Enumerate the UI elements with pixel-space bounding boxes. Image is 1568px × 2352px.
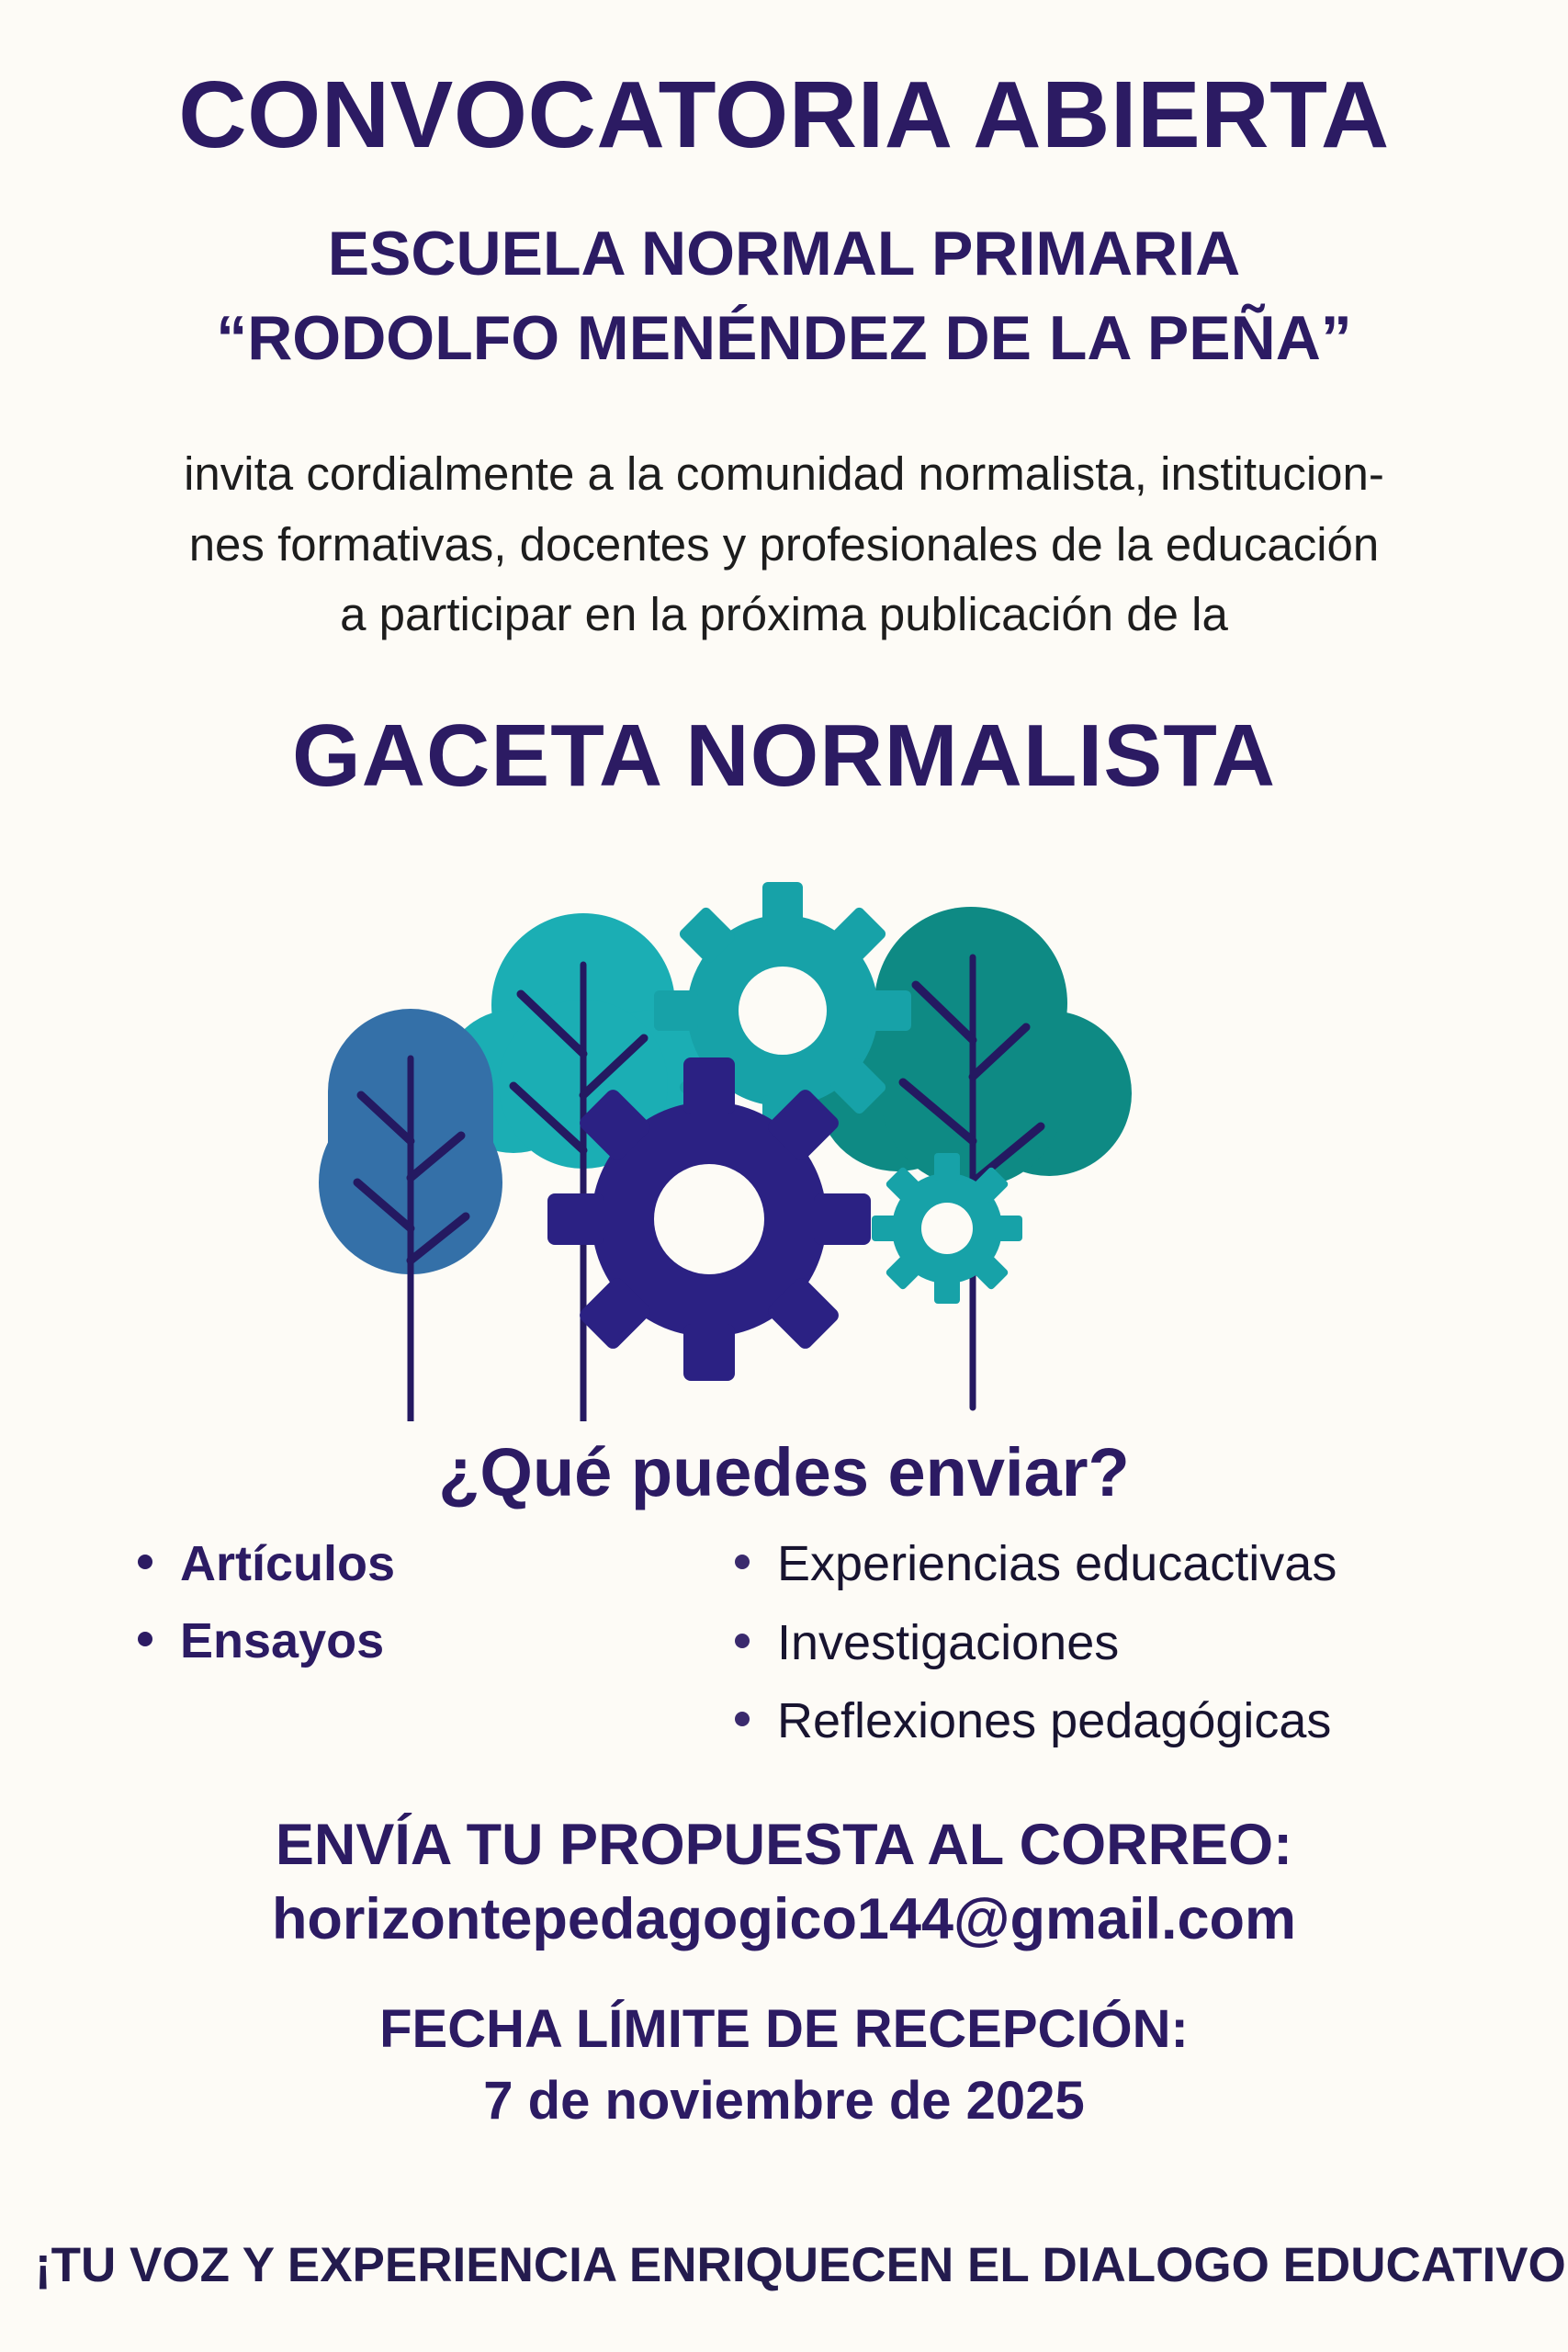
bullet-dot-icon bbox=[735, 1712, 750, 1726]
list-item: Experiencias educactivas bbox=[735, 1536, 1516, 1593]
poster-root: CONVOCATORIA ABIERTA ESCUELA NORMAL PRIM… bbox=[0, 0, 1568, 2352]
page-title: CONVOCATORIA ABIERTA bbox=[0, 66, 1568, 163]
list-item-label: Reflexiones pedagógicas bbox=[777, 1693, 1331, 1750]
bullet-dot-icon bbox=[138, 1632, 152, 1646]
invitation-line-2: nes formativas, docentes y profesionales… bbox=[55, 510, 1513, 581]
list-item-label: Investigaciones bbox=[777, 1615, 1119, 1672]
list-item: Investigaciones bbox=[735, 1615, 1516, 1672]
publication-name: GACETA NORMALISTA bbox=[0, 706, 1568, 807]
list-item: Artículos bbox=[138, 1536, 689, 1593]
submissions-question: ¿Qué puedes enviar? bbox=[0, 1433, 1568, 1511]
bullet-dot-icon bbox=[735, 1555, 750, 1569]
deadline-label: FECHA LÍMITE DE RECEPCIÓN: bbox=[0, 1998, 1568, 2060]
gear-navy-large-icon bbox=[547, 1057, 871, 1381]
invitation-line-1: invita cordialmente a la comunidad norma… bbox=[55, 439, 1513, 510]
send-proposal-label: ENVÍA TU PROPUESTA AL CORREO: bbox=[0, 1812, 1568, 1878]
invitation-line-3: a participar en la próxima publicación d… bbox=[55, 580, 1513, 650]
list-item-label: Experiencias educactivas bbox=[777, 1536, 1337, 1593]
list-item-label: Artículos bbox=[180, 1536, 395, 1593]
invitation-paragraph: invita cordialmente a la comunidad norma… bbox=[55, 439, 1513, 650]
trees-and-gears-illustration bbox=[273, 865, 1292, 1421]
tree-blue-icon bbox=[319, 1009, 502, 1421]
bullet-dot-icon bbox=[138, 1555, 152, 1569]
gear-teal-small-icon bbox=[872, 1153, 1022, 1304]
submissions-list-left: Artículos Ensayos bbox=[138, 1536, 689, 1690]
bullet-dot-icon bbox=[735, 1634, 750, 1648]
list-item: Reflexiones pedagógicas bbox=[735, 1693, 1516, 1750]
list-item-label: Ensayos bbox=[180, 1613, 384, 1670]
deadline-date: 7 de noviembre de 2025 bbox=[0, 2070, 1568, 2131]
submissions-list-right: Experiencias educactivas Investigaciones… bbox=[735, 1536, 1516, 1772]
school-name-line-1: ESCUELA NORMAL PRIMARIA bbox=[0, 220, 1568, 288]
school-name-line-2: “RODOLFO MENÉNDEZ DE LA PEÑA” bbox=[0, 305, 1568, 372]
footer-slogan: ¡TU VOZ Y EXPERIENCIA ENRIQUECEN EL DIAL… bbox=[35, 2237, 1566, 2293]
contact-email[interactable]: horizontepedagogico144@gmail.com bbox=[0, 1886, 1568, 1952]
list-item: Ensayos bbox=[138, 1613, 689, 1670]
